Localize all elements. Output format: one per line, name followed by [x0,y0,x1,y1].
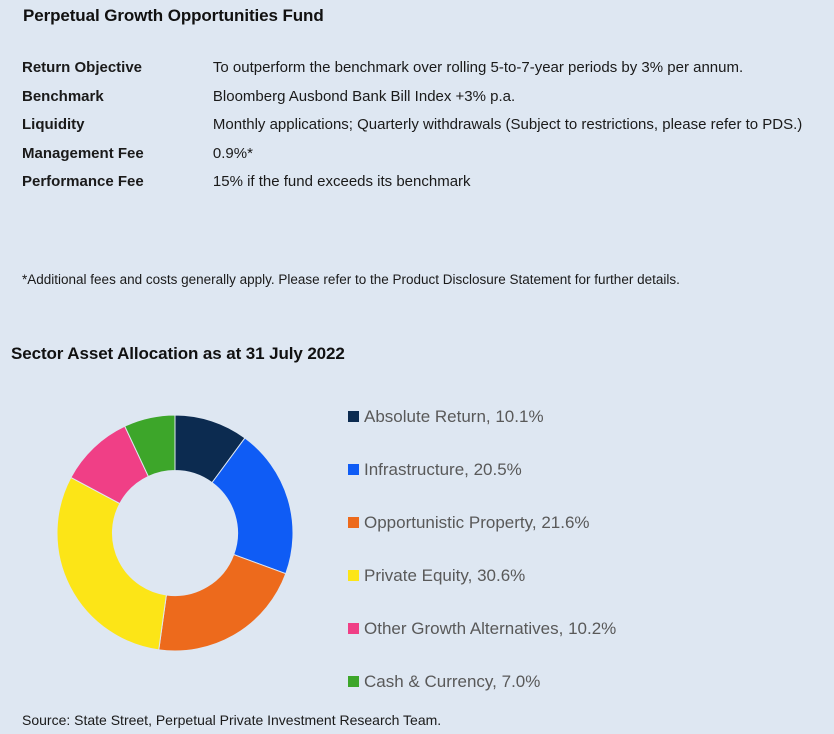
donut-chart [55,413,295,653]
table-row: Liquidity Monthly applications; Quarterl… [22,115,812,144]
legend-item[interactable]: Other Growth Alternatives, 10.2% [348,602,818,655]
fact-label-management-fee: Management Fee [22,144,213,173]
source-note: Source: State Street, Perpetual Private … [22,712,441,728]
table-row: Return Objective To outperform the bench… [22,58,812,87]
fact-value-return-objective: To outperform the benchmark over rolling… [213,58,812,87]
legend-swatch-icon [348,464,359,475]
table-row: Performance Fee 15% if the fund exceeds … [22,172,812,201]
legend-item-label: Private Equity, 30.6% [364,567,525,584]
chart-title: Sector Asset Allocation as at 31 July 20… [11,344,345,364]
fact-label-benchmark: Benchmark [22,87,213,116]
table-row: Benchmark Bloomberg Ausbond Bank Bill In… [22,87,812,116]
legend-swatch-icon [348,570,359,581]
donut-chart-svg [55,413,295,653]
legend-item[interactable]: Private Equity, 30.6% [348,549,818,602]
legend-item-label: Infrastructure, 20.5% [364,461,522,478]
table-row: Management Fee 0.9%* [22,144,812,173]
legend-item-label: Other Growth Alternatives, 10.2% [364,620,616,637]
fund-facts-table: Return Objective To outperform the bench… [22,58,812,201]
legend-item-label: Absolute Return, 10.1% [364,408,544,425]
fact-value-performance-fee: 15% if the fund exceeds its benchmark [213,172,812,201]
legend-item[interactable]: Cash & Currency, 7.0% [348,655,818,708]
legend-item[interactable]: Absolute Return, 10.1% [348,390,818,443]
donut-slice[interactable] [57,477,166,649]
fact-label-liquidity: Liquidity [22,115,213,144]
legend-swatch-icon [348,676,359,687]
legend-item[interactable]: Opportunistic Property, 21.6% [348,496,818,549]
legend-item-label: Cash & Currency, 7.0% [364,673,540,690]
fund-facts-body: Return Objective To outperform the bench… [22,58,812,201]
legend-swatch-icon [348,623,359,634]
legend-swatch-icon [348,411,359,422]
fact-value-benchmark: Bloomberg Ausbond Bank Bill Index +3% p.… [213,87,812,116]
legend-item-label: Opportunistic Property, 21.6% [364,514,590,531]
fact-value-liquidity: Monthly applications; Quarterly withdraw… [213,115,812,144]
fees-footnote: *Additional fees and costs generally app… [22,272,680,289]
fact-label-performance-fee: Performance Fee [22,172,213,201]
sector-allocation-chart: Absolute Return, 10.1%Infrastructure, 20… [0,378,834,688]
fact-value-management-fee: 0.9%* [213,144,812,173]
legend-item[interactable]: Infrastructure, 20.5% [348,443,818,496]
legend-swatch-icon [348,517,359,528]
page-title: Perpetual Growth Opportunities Fund [23,6,324,26]
fact-label-return-objective: Return Objective [22,58,213,87]
chart-legend: Absolute Return, 10.1%Infrastructure, 20… [348,390,818,708]
donut-slice[interactable] [159,555,286,651]
